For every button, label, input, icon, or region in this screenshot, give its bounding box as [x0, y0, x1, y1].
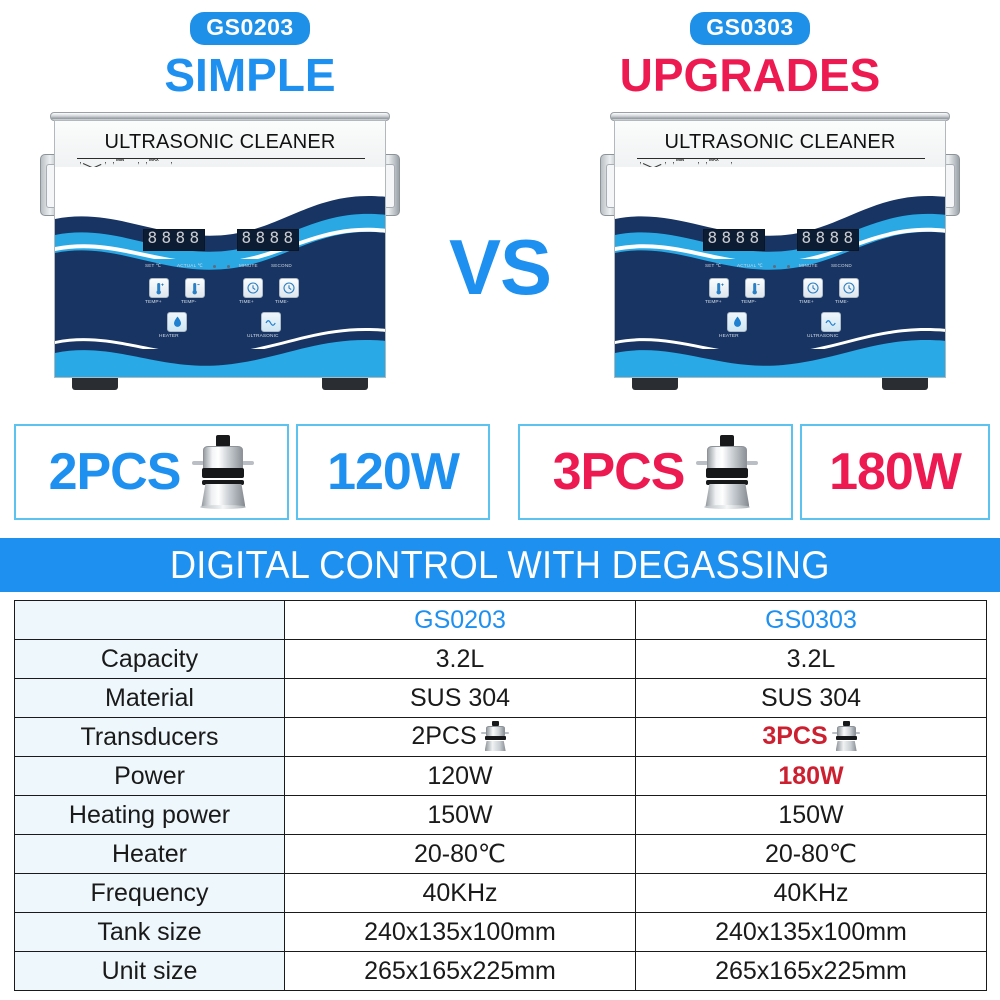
table-header-row: GS0203 GS0303: [15, 601, 987, 640]
unit-body: ULTRASONIC CLEANER MIN MAX: [54, 120, 386, 378]
row-value-gs0203: 40KHz: [285, 874, 636, 913]
spec-table-wrapper: GS0203 GS0303 Capacity 3.2L 3.2L Materia…: [14, 600, 986, 991]
row-value-gs0303: 180W: [636, 757, 987, 796]
transducer-icon: [832, 721, 860, 753]
label-actual-c: ACTUAL ℃: [737, 263, 763, 269]
time-down-label: TIME-: [835, 300, 849, 305]
table-row: Power 120W 180W: [15, 757, 987, 796]
table-header-blank: [15, 601, 285, 640]
row-value-gs0303: SUS 304: [636, 679, 987, 718]
temperature-display: [143, 229, 205, 251]
label-set-c: SET ℃: [145, 263, 161, 269]
header-title-simple: SIMPLE: [0, 52, 500, 98]
row-value-gs0303: 240x135x100mm: [636, 913, 987, 952]
time-down-button[interactable]: [279, 278, 299, 298]
ultrasonic-label: ULTRASONIC: [247, 334, 279, 339]
row-label: Heater: [15, 835, 285, 874]
display-labels: SET ℃ ACTUAL ℃ MINUTE SECOND: [55, 263, 385, 274]
table-row: Heating power 150W 150W: [15, 796, 987, 835]
spec-box-text: 3PCS: [553, 446, 685, 498]
table-row: Material SUS 304 SUS 304: [15, 679, 987, 718]
vs-label: VS: [430, 228, 570, 306]
spec-box-transducers-gs0203: 2PCS: [14, 424, 289, 520]
table-row: Tank size 240x135x100mm 240x135x100mm: [15, 913, 987, 952]
spec-box-transducers-gs0303: 3PCS: [518, 424, 793, 520]
row-label: Tank size: [15, 913, 285, 952]
row-value-text: 2PCS: [411, 722, 476, 750]
ultrasonic-button[interactable]: [261, 312, 281, 332]
unit-foot-right: [882, 378, 928, 390]
temp-down-label: TEMP-: [741, 300, 756, 305]
temp-up-button[interactable]: [149, 278, 169, 298]
heater-label: HEATER: [159, 334, 179, 339]
row-label: Material: [15, 679, 285, 718]
panel-displays: [615, 229, 945, 263]
temp-down-label: TEMP-: [181, 300, 196, 305]
row-value-gs0203: 2PCS: [285, 718, 636, 757]
row-label: Transducers: [15, 718, 285, 757]
label-second: SECOND: [271, 263, 292, 268]
row-value-gs0203: 3.2L: [285, 640, 636, 679]
header-row: GS0203 SIMPLE GS0303 UPGRADES: [0, 0, 1000, 108]
indicator-led-left: [773, 265, 776, 268]
product-image-gs0203: ULTRASONIC CLEANER MIN MAX: [40, 112, 400, 390]
row-label: Heating power: [15, 796, 285, 835]
row-value-gs0303: 3PCS: [636, 718, 987, 757]
panel-displays: [55, 229, 385, 263]
transducer-icon: [696, 435, 758, 509]
spec-boxes-row: 2PCS 120W 3PCS 180W: [0, 424, 1000, 520]
model-badge-gs0303: GS0303: [690, 12, 809, 45]
label-minute: MINUTE: [239, 263, 258, 268]
spec-box-text: 2PCS: [49, 446, 181, 498]
time-up-button[interactable]: [243, 278, 263, 298]
unit-control-panel: SET ℃ ACTUAL ℃ MINUTE SECOND TEMP+: [615, 183, 945, 378]
row-value-gs0303: 40KHz: [636, 874, 987, 913]
row-label: Frequency: [15, 874, 285, 913]
temp-up-label: TEMP+: [145, 300, 162, 305]
header-title-upgrades: UPGRADES: [500, 52, 1000, 98]
panel-controls: SET ℃ ACTUAL ℃ MINUTE SECOND TEMP+: [615, 229, 945, 342]
row-value-gs0303: 265x165x225mm: [636, 952, 987, 991]
transducer-icon: [481, 721, 509, 753]
label-set-c: SET ℃: [705, 263, 721, 269]
row-value-gs0303: 3.2L: [636, 640, 987, 679]
time-down-label: TIME-: [275, 300, 289, 305]
row-value-gs0203: 120W: [285, 757, 636, 796]
temperature-display: [703, 229, 765, 251]
spec-box-text: 180W: [829, 446, 961, 498]
panel-controls: SET ℃ ACTUAL ℃ MINUTE SECOND TEMP+: [55, 229, 385, 342]
feature-banner: DIGITAL CONTROL WITH DEGASSING: [0, 538, 1000, 592]
label-actual-c: ACTUAL ℃: [177, 263, 203, 269]
ultrasonic-button[interactable]: [821, 312, 841, 332]
unit-brand-text: ULTRASONIC CLEANER: [55, 131, 385, 154]
table-header-gs0203: GS0203: [285, 601, 636, 640]
row-value-gs0303: 150W: [636, 796, 987, 835]
spec-box-power-gs0303: 180W: [800, 424, 990, 520]
temp-down-button[interactable]: [185, 278, 205, 298]
timer-display: [797, 229, 859, 251]
label-second: SECOND: [831, 263, 852, 268]
table-row: Capacity 3.2L 3.2L: [15, 640, 987, 679]
indicator-led-right: [787, 265, 790, 268]
row-value-gs0203: SUS 304: [285, 679, 636, 718]
temp-down-button[interactable]: [745, 278, 765, 298]
indicator-led-right: [227, 265, 230, 268]
row-label: Unit size: [15, 952, 285, 991]
header-right: GS0303 UPGRADES: [500, 0, 1000, 108]
time-up-label: TIME+: [799, 300, 814, 305]
label-minute: MINUTE: [799, 263, 818, 268]
unit-body: ULTRASONIC CLEANER MIN MAX: [614, 120, 946, 378]
row-value-gs0203: 150W: [285, 796, 636, 835]
product-image-gs0303: ULTRASONIC CLEANER MIN MAX: [600, 112, 960, 390]
unit-foot-right: [322, 378, 368, 390]
panel-button-row-1: TEMP+ TEMP- TIME+ TIME-: [55, 278, 385, 312]
heater-label: HEATER: [719, 334, 739, 339]
row-label: Power: [15, 757, 285, 796]
timer-display: [237, 229, 299, 251]
ultrasonic-label: ULTRASONIC: [807, 334, 839, 339]
unit-feet: [614, 378, 946, 390]
unit-control-panel: SET ℃ ACTUAL ℃ MINUTE SECOND TEMP+: [55, 183, 385, 378]
time-up-button[interactable]: [803, 278, 823, 298]
spec-table: GS0203 GS0303 Capacity 3.2L 3.2L Materia…: [14, 600, 987, 991]
unit-feet: [54, 378, 386, 390]
time-up-label: TIME+: [239, 300, 254, 305]
row-value-gs0203: 20-80℃: [285, 835, 636, 874]
model-badge-gs0203: GS0203: [190, 12, 309, 45]
indicator-led-left: [213, 265, 216, 268]
row-label: Capacity: [15, 640, 285, 679]
heater-button[interactable]: [727, 312, 747, 332]
product-comparison-infographic: GS0203 SIMPLE GS0303 UPGRADES ULTRASONIC…: [0, 0, 1000, 1000]
table-header-gs0303: GS0303: [636, 601, 987, 640]
spec-box-power-gs0203: 120W: [296, 424, 490, 520]
unit-foot-left: [72, 378, 118, 390]
feature-banner-text: DIGITAL CONTROL WITH DEGASSING: [170, 546, 830, 585]
spec-box-text: 120W: [327, 446, 459, 498]
row-value-text: 3PCS: [762, 722, 827, 750]
panel-button-row-1: TEMP+ TEMP- TIME+ TIME-: [615, 278, 945, 312]
table-row: Transducers 2PCS 3PCS: [15, 718, 987, 757]
row-value-gs0203: 240x135x100mm: [285, 913, 636, 952]
table-row: Unit size 265x165x225mm 265x165x225mm: [15, 952, 987, 991]
temp-up-button[interactable]: [709, 278, 729, 298]
time-down-button[interactable]: [839, 278, 859, 298]
display-labels: SET ℃ ACTUAL ℃ MINUTE SECOND: [615, 263, 945, 274]
temp-up-label: TEMP+: [705, 300, 722, 305]
unit-foot-left: [632, 378, 678, 390]
panel-button-row-2: HEATER ULTRASONIC: [615, 312, 945, 342]
transducer-icon: [192, 435, 254, 509]
panel-button-row-2: HEATER ULTRASONIC: [55, 312, 385, 342]
table-row: Heater 20-80℃ 20-80℃: [15, 835, 987, 874]
unit-brand-text: ULTRASONIC CLEANER: [615, 131, 945, 154]
heater-button[interactable]: [167, 312, 187, 332]
table-row: Frequency 40KHz 40KHz: [15, 874, 987, 913]
header-left: GS0203 SIMPLE: [0, 0, 500, 108]
row-value-gs0203: 265x165x225mm: [285, 952, 636, 991]
row-value-gs0303: 20-80℃: [636, 835, 987, 874]
